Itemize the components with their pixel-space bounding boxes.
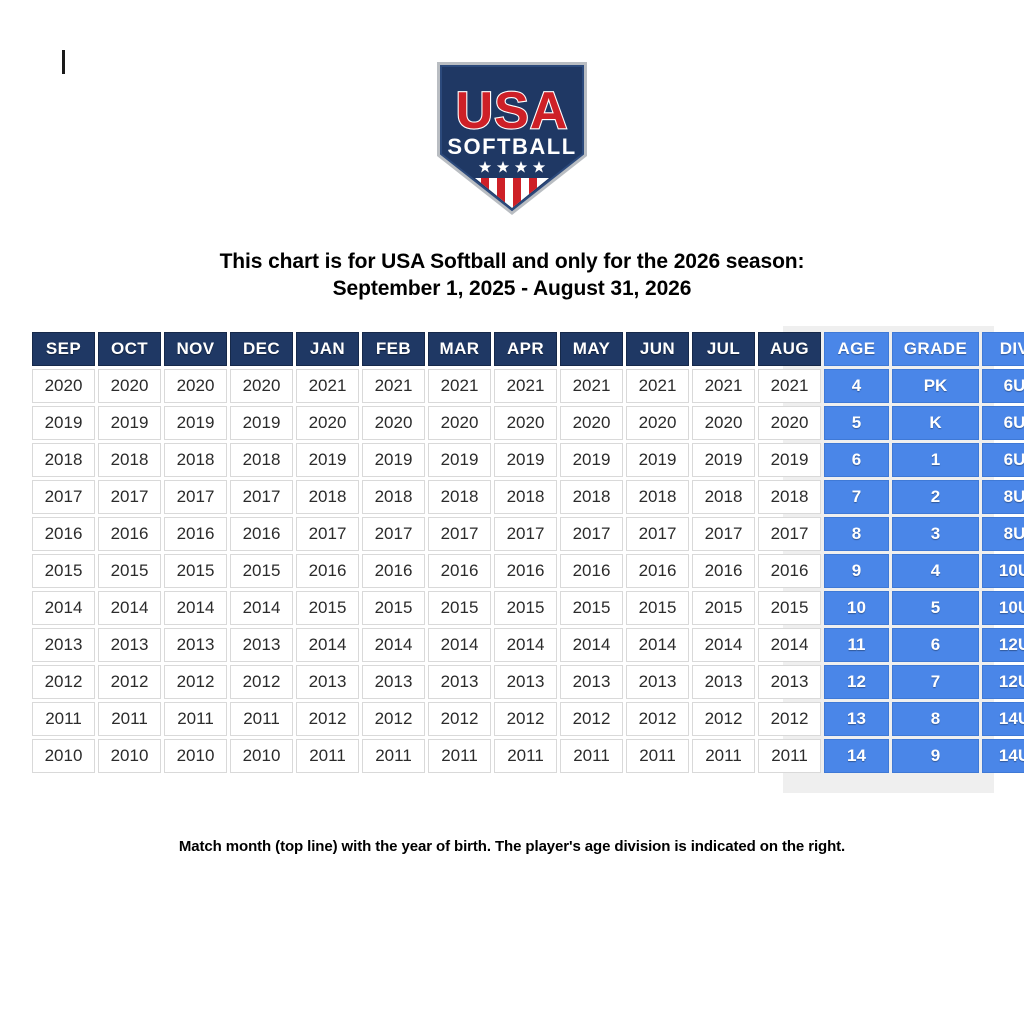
- age-cell: 14: [824, 739, 889, 773]
- year-cell: 2014: [230, 591, 293, 625]
- month-header-dec: DEC: [230, 332, 293, 366]
- div-cell: 14U: [982, 739, 1024, 773]
- div-cell: 14U: [982, 702, 1024, 736]
- grade-cell: 8: [892, 702, 979, 736]
- year-cell: 2014: [362, 628, 425, 662]
- year-cell: 2020: [98, 369, 161, 403]
- year-cell: 2015: [428, 591, 491, 625]
- usa-softball-logo: USA SOFTBALL: [427, 58, 597, 218]
- age-cell: 6: [824, 443, 889, 477]
- info-header-div: DIV: [982, 332, 1024, 366]
- div-cell: 6U: [982, 369, 1024, 403]
- year-cell: 2020: [758, 406, 821, 440]
- year-cell: 2020: [692, 406, 755, 440]
- year-cell: 2020: [494, 406, 557, 440]
- year-cell: 2021: [362, 369, 425, 403]
- year-cell: 2015: [692, 591, 755, 625]
- year-cell: 2012: [362, 702, 425, 736]
- year-cell: 2016: [428, 554, 491, 588]
- year-cell: 2010: [98, 739, 161, 773]
- year-cell: 2018: [230, 443, 293, 477]
- year-cell: 2015: [626, 591, 689, 625]
- year-cell: 2018: [362, 480, 425, 514]
- title-line-1: This chart is for USA Softball and only …: [0, 248, 1024, 275]
- year-cell: 2021: [296, 369, 359, 403]
- month-header-sep: SEP: [32, 332, 95, 366]
- year-cell: 2019: [98, 406, 161, 440]
- year-cell: 2011: [692, 739, 755, 773]
- grade-cell: 4: [892, 554, 979, 588]
- year-cell: 2010: [164, 739, 227, 773]
- year-cell: 2015: [296, 591, 359, 625]
- month-header-jun: JUN: [626, 332, 689, 366]
- year-cell: 2017: [98, 480, 161, 514]
- year-cell: 2014: [428, 628, 491, 662]
- year-cell: 2019: [32, 406, 95, 440]
- year-cell: 2015: [164, 554, 227, 588]
- year-cell: 2017: [494, 517, 557, 551]
- year-cell: 2012: [230, 665, 293, 699]
- info-header-grade: GRADE: [892, 332, 979, 366]
- header-row: SEPOCTNOVDECJANFEBMARAPRMAYJUNJULAUGAGEG…: [32, 332, 1024, 366]
- year-cell: 2011: [296, 739, 359, 773]
- table-row: 2010201020102010201120112011201120112011…: [32, 739, 1024, 773]
- year-cell: 2016: [230, 517, 293, 551]
- year-cell: 2021: [626, 369, 689, 403]
- year-cell: 2012: [164, 665, 227, 699]
- year-cell: 2018: [758, 480, 821, 514]
- year-cell: 2015: [32, 554, 95, 588]
- grade-cell: 6: [892, 628, 979, 662]
- year-cell: 2016: [98, 517, 161, 551]
- year-cell: 2012: [32, 665, 95, 699]
- year-cell: 2018: [32, 443, 95, 477]
- year-cell: 2015: [98, 554, 161, 588]
- table-row: 2017201720172017201820182018201820182018…: [32, 480, 1024, 514]
- year-cell: 2015: [362, 591, 425, 625]
- div-cell: 8U: [982, 517, 1024, 551]
- year-cell: 2012: [98, 665, 161, 699]
- year-cell: 2019: [428, 443, 491, 477]
- year-cell: 2020: [626, 406, 689, 440]
- year-cell: 2017: [32, 480, 95, 514]
- year-cell: 2014: [494, 628, 557, 662]
- year-cell: 2016: [692, 554, 755, 588]
- age-cell: 11: [824, 628, 889, 662]
- year-cell: 2013: [164, 628, 227, 662]
- year-cell: 2019: [164, 406, 227, 440]
- year-cell: 2018: [494, 480, 557, 514]
- year-cell: 2014: [692, 628, 755, 662]
- month-header-jan: JAN: [296, 332, 359, 366]
- month-header-apr: APR: [494, 332, 557, 366]
- age-cell: 10: [824, 591, 889, 625]
- year-cell: 2019: [296, 443, 359, 477]
- footer-note: Match month (top line) with the year of …: [0, 838, 1024, 855]
- year-cell: 2019: [692, 443, 755, 477]
- year-cell: 2019: [362, 443, 425, 477]
- age-cell: 9: [824, 554, 889, 588]
- year-cell: 2013: [296, 665, 359, 699]
- table-header: SEPOCTNOVDECJANFEBMARAPRMAYJUNJULAUGAGEG…: [32, 332, 1024, 366]
- year-cell: 2014: [758, 628, 821, 662]
- title-line-2: September 1, 2025 - August 31, 2026: [0, 275, 1024, 302]
- grade-cell: 5: [892, 591, 979, 625]
- table-row: 2013201320132013201420142014201420142014…: [32, 628, 1024, 662]
- year-cell: 2020: [32, 369, 95, 403]
- year-cell: 2011: [758, 739, 821, 773]
- year-cell: 2021: [560, 369, 623, 403]
- year-cell: 2016: [164, 517, 227, 551]
- svg-text:USA: USA: [456, 82, 569, 140]
- logo-container: USA SOFTBALL: [0, 58, 1024, 218]
- year-cell: 2020: [362, 406, 425, 440]
- year-cell: 2016: [758, 554, 821, 588]
- year-cell: 2018: [626, 480, 689, 514]
- month-header-nov: NOV: [164, 332, 227, 366]
- year-cell: 2016: [560, 554, 623, 588]
- year-cell: 2011: [428, 739, 491, 773]
- month-header-oct: OCT: [98, 332, 161, 366]
- year-cell: 2014: [164, 591, 227, 625]
- month-header-may: MAY: [560, 332, 623, 366]
- year-cell: 2014: [560, 628, 623, 662]
- age-cell: 13: [824, 702, 889, 736]
- year-cell: 2017: [758, 517, 821, 551]
- year-cell: 2010: [230, 739, 293, 773]
- year-cell: 2011: [494, 739, 557, 773]
- year-cell: 2017: [164, 480, 227, 514]
- year-cell: 2018: [98, 443, 161, 477]
- table-row: 2018201820182018201920192019201920192019…: [32, 443, 1024, 477]
- year-cell: 2016: [296, 554, 359, 588]
- year-cell: 2016: [362, 554, 425, 588]
- age-chart-page: USA SOFTBALL: [0, 0, 1024, 1024]
- year-cell: 2016: [626, 554, 689, 588]
- year-cell: 2013: [98, 628, 161, 662]
- div-cell: 12U: [982, 665, 1024, 699]
- div-cell: 12U: [982, 628, 1024, 662]
- month-header-aug: AUG: [758, 332, 821, 366]
- year-cell: 2013: [230, 628, 293, 662]
- div-cell: 10U: [982, 591, 1024, 625]
- year-cell: 2017: [626, 517, 689, 551]
- grade-cell: PK: [892, 369, 979, 403]
- year-cell: 2015: [758, 591, 821, 625]
- year-cell: 2011: [98, 702, 161, 736]
- grade-cell: K: [892, 406, 979, 440]
- year-cell: 2011: [230, 702, 293, 736]
- year-cell: 2012: [560, 702, 623, 736]
- grade-cell: 3: [892, 517, 979, 551]
- year-cell: 2020: [164, 369, 227, 403]
- year-cell: 2011: [164, 702, 227, 736]
- year-cell: 2014: [98, 591, 161, 625]
- month-header-jul: JUL: [692, 332, 755, 366]
- grade-cell: 1: [892, 443, 979, 477]
- year-cell: 2020: [230, 369, 293, 403]
- year-cell: 2012: [626, 702, 689, 736]
- age-chart-table: SEPOCTNOVDECJANFEBMARAPRMAYJUNJULAUGAGEG…: [29, 329, 1024, 776]
- grade-cell: 2: [892, 480, 979, 514]
- year-cell: 2015: [494, 591, 557, 625]
- year-cell: 2017: [428, 517, 491, 551]
- year-cell: 2015: [230, 554, 293, 588]
- year-cell: 2018: [692, 480, 755, 514]
- year-cell: 2017: [362, 517, 425, 551]
- month-header-feb: FEB: [362, 332, 425, 366]
- year-cell: 2016: [32, 517, 95, 551]
- year-cell: 2020: [428, 406, 491, 440]
- grade-cell: 9: [892, 739, 979, 773]
- year-cell: 2017: [692, 517, 755, 551]
- div-cell: 10U: [982, 554, 1024, 588]
- year-cell: 2012: [758, 702, 821, 736]
- year-cell: 2018: [560, 480, 623, 514]
- table-row: 2016201620162016201720172017201720172017…: [32, 517, 1024, 551]
- year-cell: 2021: [692, 369, 755, 403]
- year-cell: 2018: [428, 480, 491, 514]
- year-cell: 2016: [494, 554, 557, 588]
- year-cell: 2020: [296, 406, 359, 440]
- year-cell: 2014: [296, 628, 359, 662]
- year-cell: 2014: [32, 591, 95, 625]
- page-title: This chart is for USA Softball and only …: [0, 248, 1024, 302]
- year-cell: 2021: [494, 369, 557, 403]
- div-cell: 6U: [982, 406, 1024, 440]
- age-chart-table-container: SEPOCTNOVDECJANFEBMARAPRMAYJUNJULAUGAGEG…: [29, 329, 994, 776]
- div-cell: 8U: [982, 480, 1024, 514]
- year-cell: 2019: [758, 443, 821, 477]
- year-cell: 2012: [692, 702, 755, 736]
- year-cell: 2013: [758, 665, 821, 699]
- table-row: 2015201520152015201620162016201620162016…: [32, 554, 1024, 588]
- year-cell: 2017: [296, 517, 359, 551]
- age-cell: 7: [824, 480, 889, 514]
- year-cell: 2019: [494, 443, 557, 477]
- year-cell: 2019: [560, 443, 623, 477]
- table-row: 2012201220122012201320132013201320132013…: [32, 665, 1024, 699]
- year-cell: 2019: [626, 443, 689, 477]
- year-cell: 2013: [560, 665, 623, 699]
- svg-text:SOFTBALL: SOFTBALL: [447, 134, 576, 159]
- year-cell: 2021: [758, 369, 821, 403]
- year-cell: 2012: [428, 702, 491, 736]
- age-cell: 4: [824, 369, 889, 403]
- year-cell: 2021: [428, 369, 491, 403]
- year-cell: 2013: [692, 665, 755, 699]
- year-cell: 2010: [32, 739, 95, 773]
- age-cell: 12: [824, 665, 889, 699]
- year-cell: 2013: [32, 628, 95, 662]
- year-cell: 2012: [494, 702, 557, 736]
- year-cell: 2011: [362, 739, 425, 773]
- table-row: 2019201920192019202020202020202020202020…: [32, 406, 1024, 440]
- year-cell: 2011: [32, 702, 95, 736]
- year-cell: 2017: [560, 517, 623, 551]
- year-cell: 2015: [560, 591, 623, 625]
- div-cell: 6U: [982, 443, 1024, 477]
- year-cell: 2012: [296, 702, 359, 736]
- table-row: 2014201420142014201520152015201520152015…: [32, 591, 1024, 625]
- year-cell: 2013: [362, 665, 425, 699]
- year-cell: 2011: [626, 739, 689, 773]
- year-cell: 2018: [296, 480, 359, 514]
- age-cell: 8: [824, 517, 889, 551]
- info-header-age: AGE: [824, 332, 889, 366]
- year-cell: 2011: [560, 739, 623, 773]
- month-header-mar: MAR: [428, 332, 491, 366]
- year-cell: 2019: [230, 406, 293, 440]
- table-body: 2020202020202020202120212021202120212021…: [32, 369, 1024, 773]
- age-cell: 5: [824, 406, 889, 440]
- grade-cell: 7: [892, 665, 979, 699]
- year-cell: 2013: [494, 665, 557, 699]
- year-cell: 2013: [428, 665, 491, 699]
- year-cell: 2013: [626, 665, 689, 699]
- year-cell: 2020: [560, 406, 623, 440]
- table-row: 2020202020202020202120212021202120212021…: [32, 369, 1024, 403]
- table-row: 2011201120112011201220122012201220122012…: [32, 702, 1024, 736]
- year-cell: 2018: [164, 443, 227, 477]
- year-cell: 2017: [230, 480, 293, 514]
- year-cell: 2014: [626, 628, 689, 662]
